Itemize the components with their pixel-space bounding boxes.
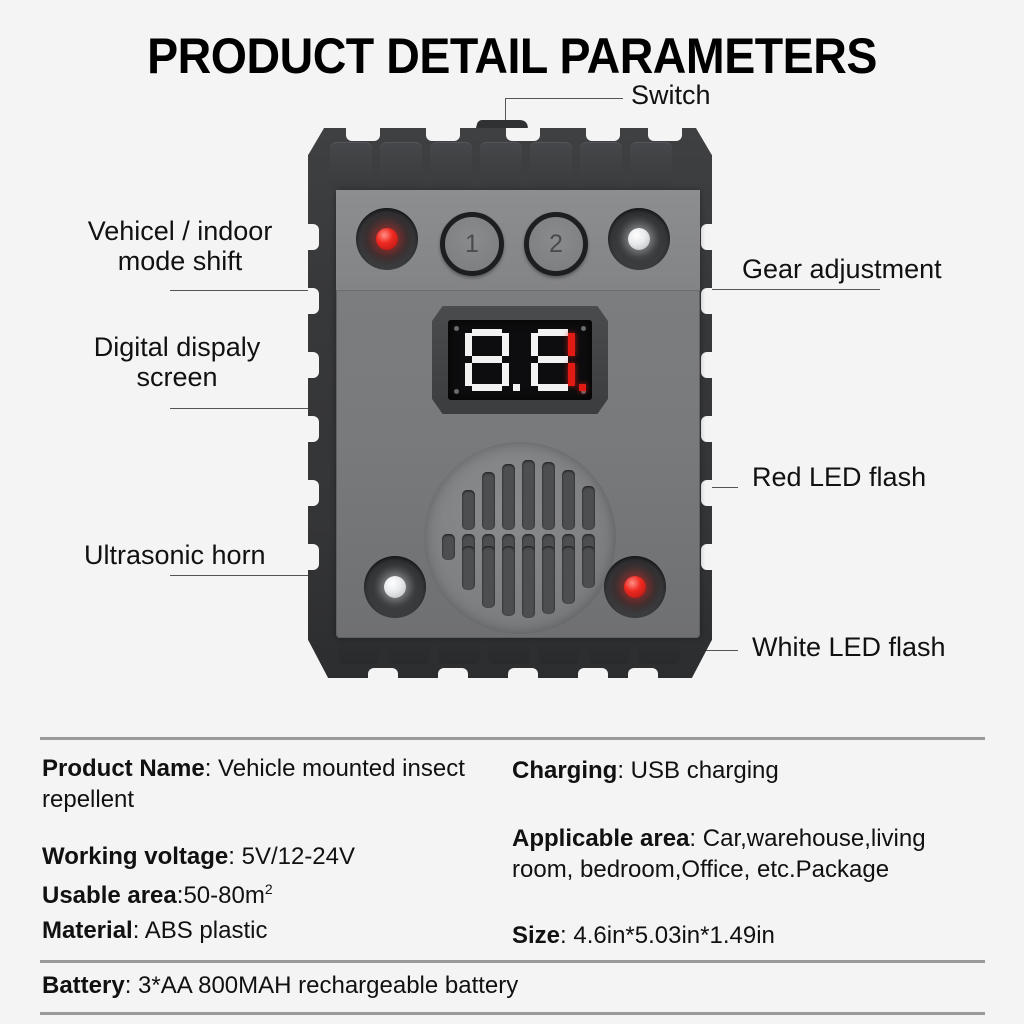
mode-shift-button-label: 1	[465, 230, 479, 259]
page-title: PRODUCT DETAIL PARAMETERS	[36, 27, 988, 85]
spec-material: Material: ABS plastic	[42, 915, 492, 946]
shell-notch-right	[701, 416, 713, 442]
white-led-indicator-bottom	[364, 556, 426, 618]
display-digit-right	[531, 329, 575, 391]
shell-notch-bottom	[368, 668, 398, 679]
shell-notch-bottom	[578, 668, 608, 679]
shell-notch-right	[701, 352, 713, 378]
spec-usable-area-value: 50-80m	[183, 882, 264, 909]
spec-battery-label: Battery	[42, 972, 125, 999]
grille-slot	[502, 464, 515, 530]
grille-slot	[542, 462, 555, 530]
spec-usable-area: Usable area:50-80m2	[42, 880, 492, 911]
shell-notch-bottom	[508, 668, 538, 679]
callout-red-led: Red LED flash	[752, 462, 926, 492]
grille-slot	[522, 460, 535, 530]
spec-battery: Battery: 3*AA 800MAH rechargeable batter…	[42, 972, 518, 1000]
grille-slot	[582, 486, 595, 530]
gear-adjustment-button-label: 2	[549, 230, 563, 259]
spec-product-name-label: Product Name	[42, 755, 205, 782]
spec-material-label: Material	[42, 917, 133, 944]
segment-g	[472, 356, 502, 363]
white-led-indicator-top	[608, 208, 670, 270]
shell-notch-left	[307, 352, 319, 378]
shell-ridge-top	[580, 142, 622, 188]
segment-decimal-point	[513, 384, 520, 391]
spec-charging: Charging: USB charging	[512, 755, 982, 786]
grille-slot	[522, 546, 535, 618]
shell-ridge-top	[330, 142, 372, 188]
shell-notch-top	[586, 127, 620, 141]
segment-a	[538, 329, 568, 336]
spec-working-voltage-value: 5V/12-24V	[242, 843, 355, 870]
grille-slot	[462, 546, 475, 590]
gear-adjustment-button[interactable]: 2	[524, 212, 588, 276]
spec-working-voltage-separator: :	[228, 843, 241, 870]
grille-slot	[582, 546, 595, 588]
device-front-panel: 1 2	[336, 190, 700, 638]
grille-slot	[442, 534, 455, 560]
shell-notch-left	[307, 416, 319, 442]
spec-size-separator: :	[560, 922, 573, 949]
display-screw	[581, 326, 586, 331]
mode-shift-button[interactable]: 1	[440, 212, 504, 276]
grille-slot	[482, 472, 495, 530]
segment-a	[472, 329, 502, 336]
spec-size-value: 4.6in*5.03in*1.49in	[573, 922, 775, 949]
spec-usable-area-label: Usable area	[42, 882, 177, 909]
spec-material-separator: :	[133, 917, 145, 944]
spec-product-name: Product Name: Vehicle mounted insect rep…	[42, 753, 492, 815]
infographic-page: PRODUCT DETAIL PARAMETERS Switch Vehicel…	[0, 0, 1024, 1024]
white-led-dot	[628, 228, 650, 250]
shell-notch-bottom	[438, 668, 468, 679]
grille-slot	[542, 546, 555, 614]
shell-notch-left	[307, 224, 319, 250]
shell-notch-right	[701, 544, 713, 570]
spec-applicable-area: Applicable area: Car,warehouse,living ro…	[512, 823, 982, 885]
segment-d	[472, 384, 502, 391]
shell-ridge-top	[630, 142, 672, 188]
spec-battery-separator: :	[125, 972, 138, 999]
spec-applicable-area-separator: :	[689, 825, 702, 852]
divider-top	[40, 737, 985, 740]
shell-notch-top	[426, 127, 460, 141]
callout-mode-shift: Vehicel / indoor mode shift	[70, 216, 290, 276]
display-digit-left	[465, 329, 509, 391]
shell-notch-bottom	[628, 668, 658, 679]
spec-working-voltage-label: Working voltage	[42, 843, 228, 870]
grille-slot	[562, 546, 575, 604]
shell-notch-top	[648, 127, 682, 141]
segment-b	[502, 333, 509, 356]
red-led-indicator-bottom	[604, 556, 666, 618]
segment-f	[531, 333, 538, 356]
spec-usable-area-superscript: 2	[265, 881, 273, 897]
grille-slot	[482, 546, 495, 608]
spec-product-name-separator: :	[205, 755, 218, 782]
segment-c	[502, 363, 509, 386]
segment-b	[568, 333, 575, 356]
segment-g	[538, 356, 568, 363]
callout-white-led: White LED flash	[752, 632, 946, 662]
shell-notch-left	[307, 544, 319, 570]
digital-display-screen	[448, 320, 592, 400]
spec-charging-label: Charging	[512, 757, 617, 784]
divider-bottom	[40, 1012, 985, 1015]
spec-working-voltage: Working voltage: 5V/12-24V	[42, 841, 492, 872]
callout-digital-display: Digital dispaly screen	[84, 332, 270, 392]
shell-ridge-top	[380, 142, 422, 188]
segment-d	[538, 384, 568, 391]
shell-notch-right	[701, 288, 713, 314]
segment-c	[568, 363, 575, 386]
spec-charging-value: USB charging	[631, 757, 779, 784]
grille-slot	[502, 546, 515, 616]
shell-notch-left	[307, 288, 319, 314]
shell-notch-right	[701, 480, 713, 506]
spec-battery-value: 3*AA 800MAH rechargeable battery	[138, 972, 518, 999]
spec-size: Size: 4.6in*5.03in*1.49in	[512, 920, 982, 951]
callout-switch: Switch	[631, 80, 711, 110]
segment-decimal-point	[579, 384, 586, 391]
shell-ridge-top	[530, 142, 572, 188]
digital-display-bezel	[432, 306, 608, 414]
red-led-dot	[624, 576, 646, 598]
display-screw	[454, 326, 459, 331]
spec-charging-separator: :	[617, 757, 630, 784]
callout-gear-adjustment: Gear adjustment	[742, 254, 942, 284]
callout-ultrasonic-horn: Ultrasonic horn	[84, 540, 266, 570]
shell-notch-top	[346, 127, 380, 141]
grille-slot	[462, 490, 475, 530]
shell-notch-left	[307, 480, 319, 506]
spec-applicable-area-label: Applicable area	[512, 825, 689, 852]
shell-notch-top	[506, 127, 540, 141]
shell-ridge-top	[430, 142, 472, 188]
display-screw	[454, 389, 459, 394]
spec-size-label: Size	[512, 922, 560, 949]
product-device-image: 1 2	[300, 118, 720, 683]
white-led-dot	[384, 576, 406, 598]
red-led-indicator-top	[356, 208, 418, 270]
segment-e	[531, 363, 538, 386]
grille-slot	[562, 470, 575, 530]
shell-notch-right	[701, 224, 713, 250]
leader-line-switch-horizontal	[505, 98, 623, 99]
red-led-dot	[376, 228, 398, 250]
segment-e	[465, 363, 472, 386]
segment-f	[465, 333, 472, 356]
ultrasonic-speaker-grille	[424, 442, 616, 634]
device-outer-shell: 1 2	[308, 128, 712, 678]
divider-middle	[40, 960, 985, 963]
shell-ridge-top	[480, 142, 522, 188]
spec-material-value: ABS plastic	[145, 917, 268, 944]
